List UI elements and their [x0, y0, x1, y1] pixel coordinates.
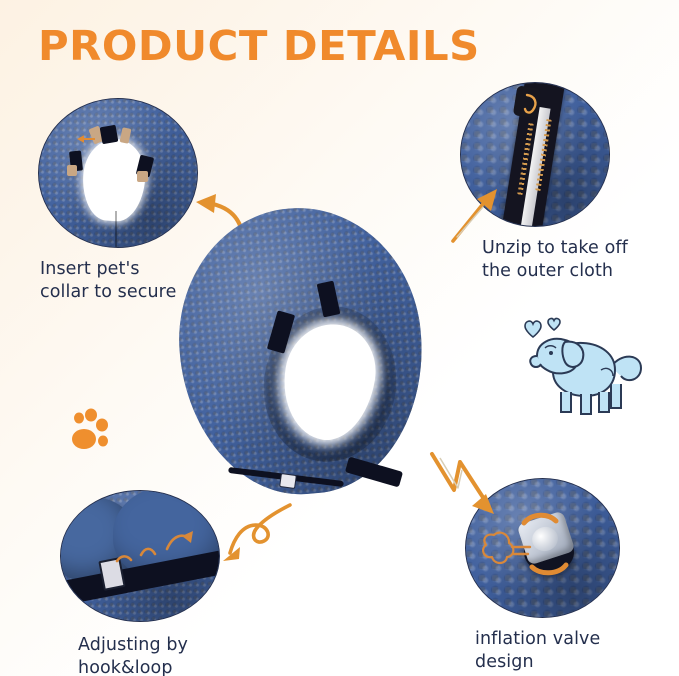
callout-photo-hook-and-loop — [60, 490, 220, 622]
callout-hook-and-loop: Adjusting by hook&loop — [60, 490, 220, 676]
product-photo-main — [172, 198, 430, 504]
zigzag-arrow-down-right-icon — [424, 444, 504, 524]
product-details-poster: PRODUCT DETAILS Insert pet's collar to s… — [0, 0, 679, 676]
straight-arrow-up-right-icon — [447, 185, 503, 247]
heart-icon-small — [548, 319, 560, 330]
zipper-pull-icon — [519, 93, 543, 121]
heart-icon-large — [525, 321, 541, 337]
callout-caption-inflation-valve: inflation valve design — [475, 628, 620, 674]
paw-print-icon — [70, 408, 114, 456]
valve-rotation-arrows-icon — [518, 505, 580, 583]
callout-caption-unzip-cloth: Unzip to take off the outer cloth — [482, 237, 628, 283]
callout-unzip-cloth: Unzip to take off the outer cloth — [460, 82, 628, 283]
adjust-motion-arrows-icon — [111, 525, 201, 567]
inner-hint-arrow-icon — [75, 131, 97, 145]
loop-arrow-down-left-icon — [222, 495, 300, 575]
callout-caption-hook-and-loop: Adjusting by hook&loop — [78, 634, 220, 676]
dog-illustration-icon — [523, 312, 653, 422]
page-title: PRODUCT DETAILS — [38, 22, 480, 70]
product-buckle — [279, 473, 297, 489]
